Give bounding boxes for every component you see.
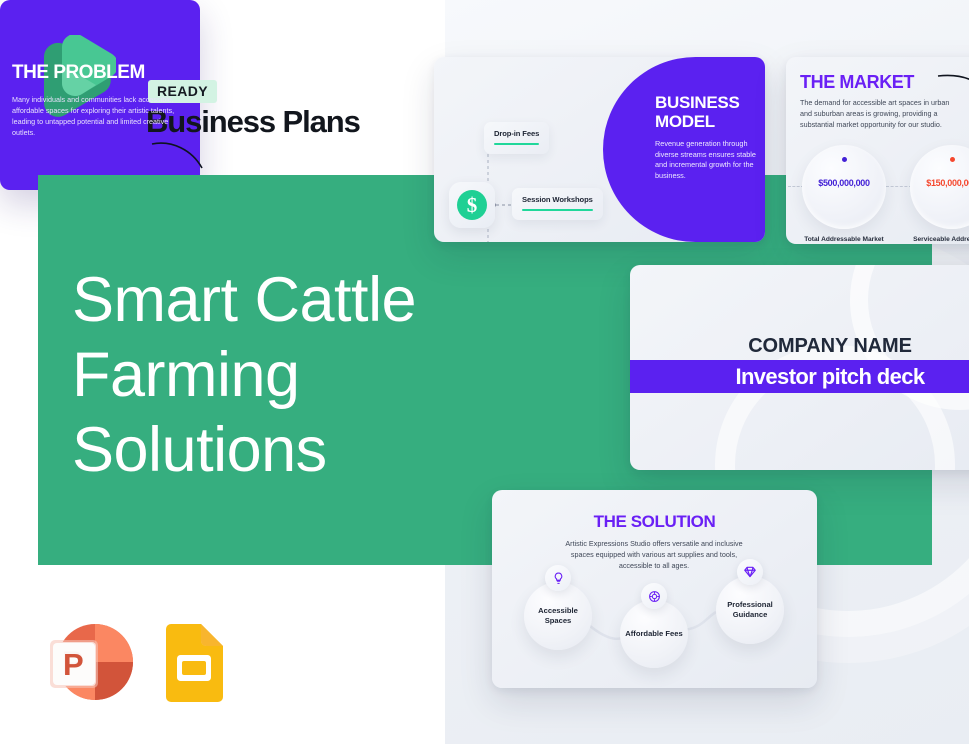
- market-dial: $150,000,000: [910, 145, 969, 229]
- microsoft-powerpoint-icon: P P: [42, 620, 134, 704]
- slide-body: Many individuals and communities lack ac…: [12, 94, 182, 138]
- curved-arrow-icon: [936, 70, 969, 116]
- solution-node[interactable]: Professional Guidance: [716, 576, 784, 644]
- svg-text:P: P: [63, 647, 84, 682]
- slide-the-problem[interactable]: THE PROBLEM Many individuals and communi…: [0, 0, 200, 190]
- slide-the-solution[interactable]: THE SOLUTION Artistic Expressions Studio…: [492, 490, 817, 688]
- diamond-icon: [737, 559, 763, 585]
- curved-arrow-icon: [150, 140, 200, 176]
- slide-heading: THE MARKET: [800, 72, 914, 93]
- subtitle-band: Investor pitch deck: [630, 360, 969, 393]
- dial-value: $150,000,000: [910, 178, 969, 188]
- hero-title-line-2: Farming: [72, 338, 492, 413]
- slide-heading-line-1: BUSINESS: [655, 93, 763, 112]
- slide-the-market[interactable]: THE MARKET The demand for accessible art…: [786, 57, 969, 244]
- coin-target-icon: [641, 583, 667, 609]
- hero-title: Smart Cattle Farming Solutions: [72, 263, 492, 488]
- node-label: Accessible Spaces: [524, 606, 592, 626]
- dial-connector: [886, 186, 912, 187]
- slide-heading: BUSINESS MODEL: [655, 93, 763, 131]
- slide-business-model[interactable]: Drop-in Fees Session Workshops Commissio…: [434, 57, 765, 242]
- dial-caption: Total Addressable Market (TAM): [795, 235, 893, 244]
- chip-label: Session Workshops: [522, 195, 593, 204]
- slide-company-name[interactable]: COMPANY NAME Investor pitch deck: [630, 265, 969, 470]
- lightbulb-icon: [545, 565, 571, 591]
- chip-underline: [494, 143, 539, 145]
- slide-body: Revenue generation through diverse strea…: [655, 139, 763, 181]
- hero-title-line-1: Smart Cattle: [72, 263, 492, 338]
- hero-title-line-3: Solutions: [72, 413, 492, 488]
- dollar-sign-icon: $: [457, 190, 487, 220]
- google-slides-icon: [160, 624, 228, 702]
- market-dial: $500,000,000: [802, 145, 886, 229]
- solution-node[interactable]: Accessible Spaces: [524, 582, 592, 650]
- company-name: COMPANY NAME: [630, 335, 969, 358]
- dial-value: $500,000,000: [802, 178, 886, 188]
- chip-label: Drop-in Fees: [494, 129, 539, 138]
- slide-heading-line-2: MODEL: [655, 112, 763, 131]
- node-label: Affordable Fees: [625, 629, 682, 639]
- deck-subtitle: Investor pitch deck: [735, 364, 924, 390]
- revenue-stream-chip[interactable]: Drop-in Fees: [484, 122, 549, 154]
- dollar-tile: $: [449, 182, 495, 228]
- chip-underline: [522, 209, 593, 211]
- dial-dot-icon: [950, 157, 955, 162]
- solution-node[interactable]: Affordable Fees: [620, 600, 688, 668]
- promo-cover: READY Business Plans Smart Cattle Farmin…: [0, 0, 969, 744]
- dial-caption: Serviceable Addressable Market (SAM): [903, 235, 969, 244]
- revenue-stream-chip[interactable]: Session Workshops: [512, 188, 603, 220]
- slide-heading: THE PROBLEM: [12, 62, 145, 84]
- node-label: Professional Guidance: [716, 600, 784, 620]
- slide-body: The demand for accessible art spaces in …: [800, 97, 954, 130]
- dial-dot-icon: [842, 157, 847, 162]
